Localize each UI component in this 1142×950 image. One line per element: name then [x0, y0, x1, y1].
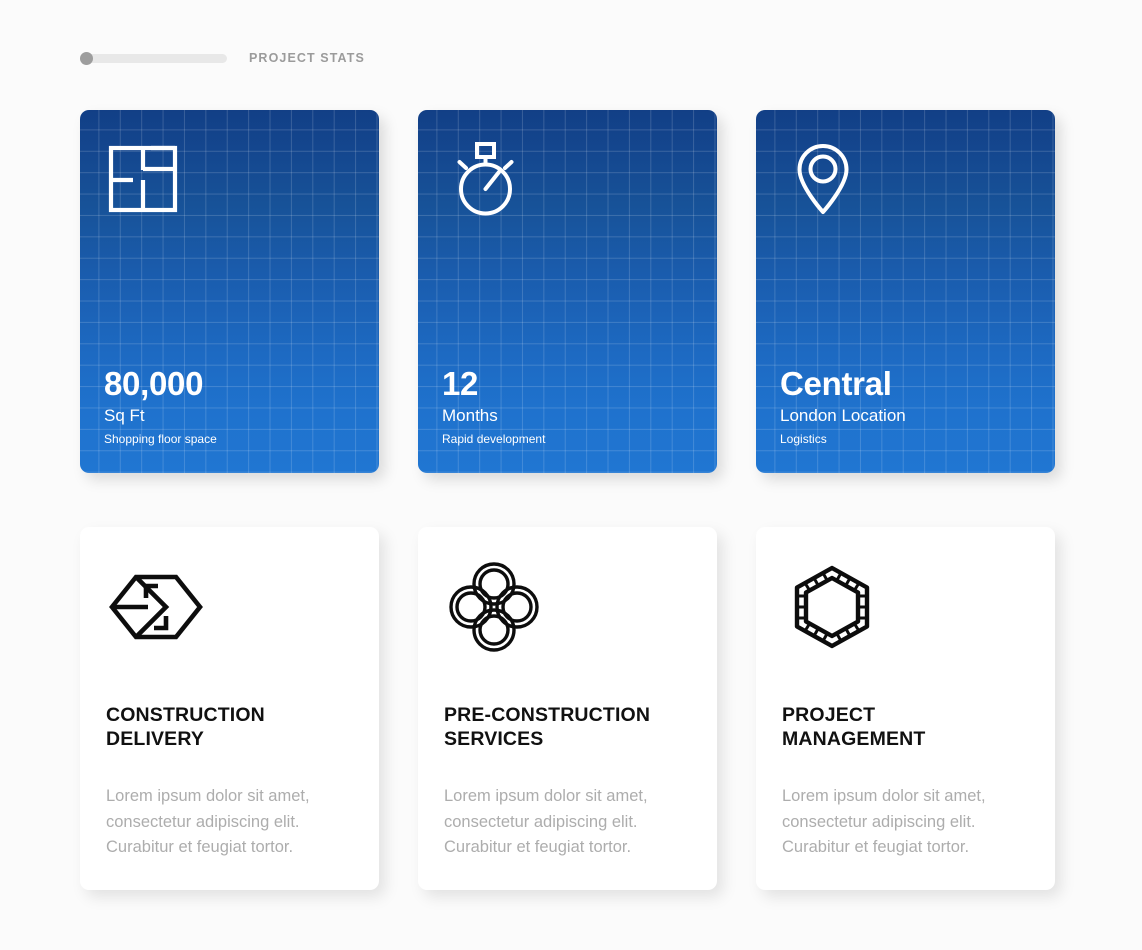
service-body: Lorem ipsum dolor sit amet, consectetur …: [444, 784, 691, 861]
stat-text-block: Central London Location Logistics: [780, 367, 1037, 446]
floor-plan-icon: [104, 136, 190, 222]
progress-dot-icon: [80, 52, 93, 65]
stat-card[interactable]: 12 Months Rapid development: [418, 110, 717, 473]
service-card[interactable]: PRE-CONSTRUCTION SERVICES Lorem ipsum do…: [418, 527, 717, 890]
section-header: PROJECT STATS: [80, 48, 365, 68]
service-title: PRE-CONSTRUCTION SERVICES: [444, 703, 691, 751]
stat-value: Central: [780, 367, 1037, 402]
map-pin-icon: [780, 136, 866, 222]
stat-description: Rapid development: [442, 432, 699, 446]
service-card[interactable]: CONSTRUCTION DELIVERY Lorem ipsum dolor …: [80, 527, 379, 890]
stat-value: 80,000: [104, 367, 361, 402]
section-title: PROJECT STATS: [249, 51, 365, 65]
service-card-row: CONSTRUCTION DELIVERY Lorem ipsum dolor …: [80, 527, 1055, 890]
stat-description: Shopping floor space: [104, 432, 361, 446]
segmented-hexagon-icon: [782, 561, 882, 653]
project-stats-page: PROJECT STATS 80,000 Sq Ft Shopping floo…: [0, 0, 1142, 950]
service-card[interactable]: PROJECT MANAGEMENT Lorem ipsum dolor sit…: [756, 527, 1055, 890]
interlocking-diamond-icon: [106, 561, 206, 653]
stopwatch-icon: [442, 136, 528, 222]
stat-unit: London Location: [780, 406, 1037, 426]
stat-description: Logistics: [780, 432, 1037, 446]
service-title: CONSTRUCTION DELIVERY: [106, 703, 353, 751]
stat-card[interactable]: 80,000 Sq Ft Shopping floor space: [80, 110, 379, 473]
progress-bar-icon: [80, 54, 227, 63]
service-body: Lorem ipsum dolor sit amet, consectetur …: [782, 784, 1029, 861]
service-body: Lorem ipsum dolor sit amet, consectetur …: [106, 784, 353, 861]
stat-text-block: 80,000 Sq Ft Shopping floor space: [104, 367, 361, 446]
stat-text-block: 12 Months Rapid development: [442, 367, 699, 446]
stat-card[interactable]: Central London Location Logistics: [756, 110, 1055, 473]
stat-unit: Months: [442, 406, 699, 426]
service-title: PROJECT MANAGEMENT: [782, 703, 1029, 751]
stat-value: 12: [442, 367, 699, 402]
quatrefoil-rings-icon: [444, 561, 544, 653]
stat-unit: Sq Ft: [104, 406, 361, 426]
stat-card-row: 80,000 Sq Ft Shopping floor space 12 M: [80, 110, 1055, 473]
